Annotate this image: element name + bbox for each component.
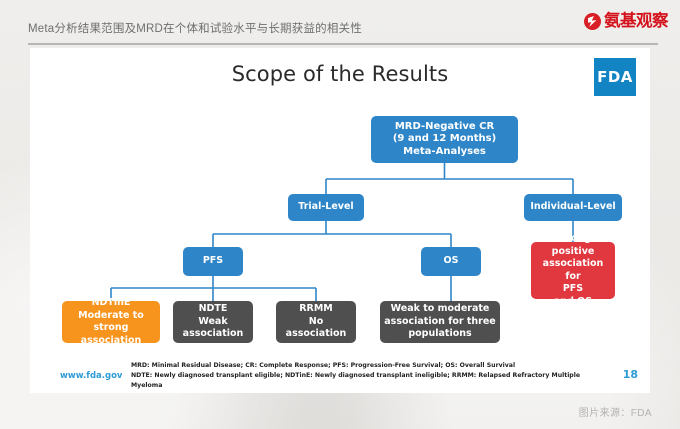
node-ndtine-line3: association bbox=[81, 335, 142, 346]
node-strong-positive-association: Strong positive association for PFS and … bbox=[531, 242, 615, 299]
node-ndtine-line2: Moderate to strong bbox=[78, 310, 144, 334]
node-ndte-line1: NDTE bbox=[199, 303, 228, 314]
slide-page-number: 18 bbox=[623, 368, 638, 381]
brand-logo: 氨基观察 bbox=[584, 13, 668, 30]
slide-canvas: Scope of the Results FDA bbox=[30, 48, 650, 393]
brand-name: 氨基观察 bbox=[604, 13, 668, 30]
node-ndtine: NDTinE Moderate to strong association bbox=[62, 301, 160, 343]
node-weakmod-line3: populations bbox=[408, 328, 471, 339]
node-strong-line4: and OS bbox=[554, 296, 592, 307]
node-individual-level: Individual-Level bbox=[524, 194, 622, 221]
footnote-line-2: NDTE: Newly diagnosed transplant eligibl… bbox=[131, 371, 591, 391]
page-header: Meta分析结果范围及MRD在个体和试验水平与长期获益的相关性 氨基观察 bbox=[0, 0, 680, 44]
node-weak-to-moderate: Weak to moderate association for three p… bbox=[380, 301, 500, 343]
node-weakmod-line1: Weak to moderate bbox=[391, 303, 490, 314]
node-ndte: NDTE Weak association bbox=[173, 301, 253, 343]
node-root-line3: Meta-Analyses bbox=[403, 146, 486, 157]
node-mrd-negative-cr: MRD-Negative CR (9 and 12 Months) Meta-A… bbox=[371, 116, 518, 163]
node-ndte-line2: Weak bbox=[198, 316, 227, 327]
footnote-line-1: MRD: Minimal Residual Disease; CR: Compl… bbox=[131, 361, 591, 371]
flowchart: MRD-Negative CR (9 and 12 Months) Meta-A… bbox=[30, 48, 650, 393]
node-weakmod-line2: association for three bbox=[384, 316, 495, 327]
node-trial-level: Trial-Level bbox=[288, 194, 364, 221]
header-title: Meta分析结果范围及MRD在个体和试验水平与长期获益的相关性 bbox=[28, 20, 362, 36]
node-rrmm: RRMM No association bbox=[276, 301, 356, 343]
node-rrmm-line3: association bbox=[286, 328, 347, 339]
node-strong-line2: association for bbox=[543, 258, 604, 282]
node-rrmm-line2: No bbox=[309, 316, 323, 327]
fda-website-link[interactable]: www.fda.gov bbox=[60, 371, 122, 381]
image-source-watermark: 图片来源：FDA bbox=[579, 404, 652, 419]
node-root-line1: MRD-Negative CR bbox=[395, 121, 494, 132]
lightning-circle-icon bbox=[584, 13, 601, 30]
node-os: OS bbox=[421, 247, 481, 276]
header-divider bbox=[28, 43, 658, 45]
node-pfs: PFS bbox=[183, 247, 243, 276]
node-strong-line1: Strong positive bbox=[552, 233, 595, 257]
node-root-line2: (9 and 12 Months) bbox=[393, 133, 496, 144]
node-ndte-line3: association bbox=[183, 328, 244, 339]
node-rrmm-line1: RRMM bbox=[299, 303, 333, 314]
footnote-abbreviations: MRD: Minimal Residual Disease; CR: Compl… bbox=[131, 361, 591, 391]
node-strong-line3: PFS bbox=[563, 283, 583, 294]
node-ndtine-line1: NDTinE bbox=[92, 297, 131, 308]
